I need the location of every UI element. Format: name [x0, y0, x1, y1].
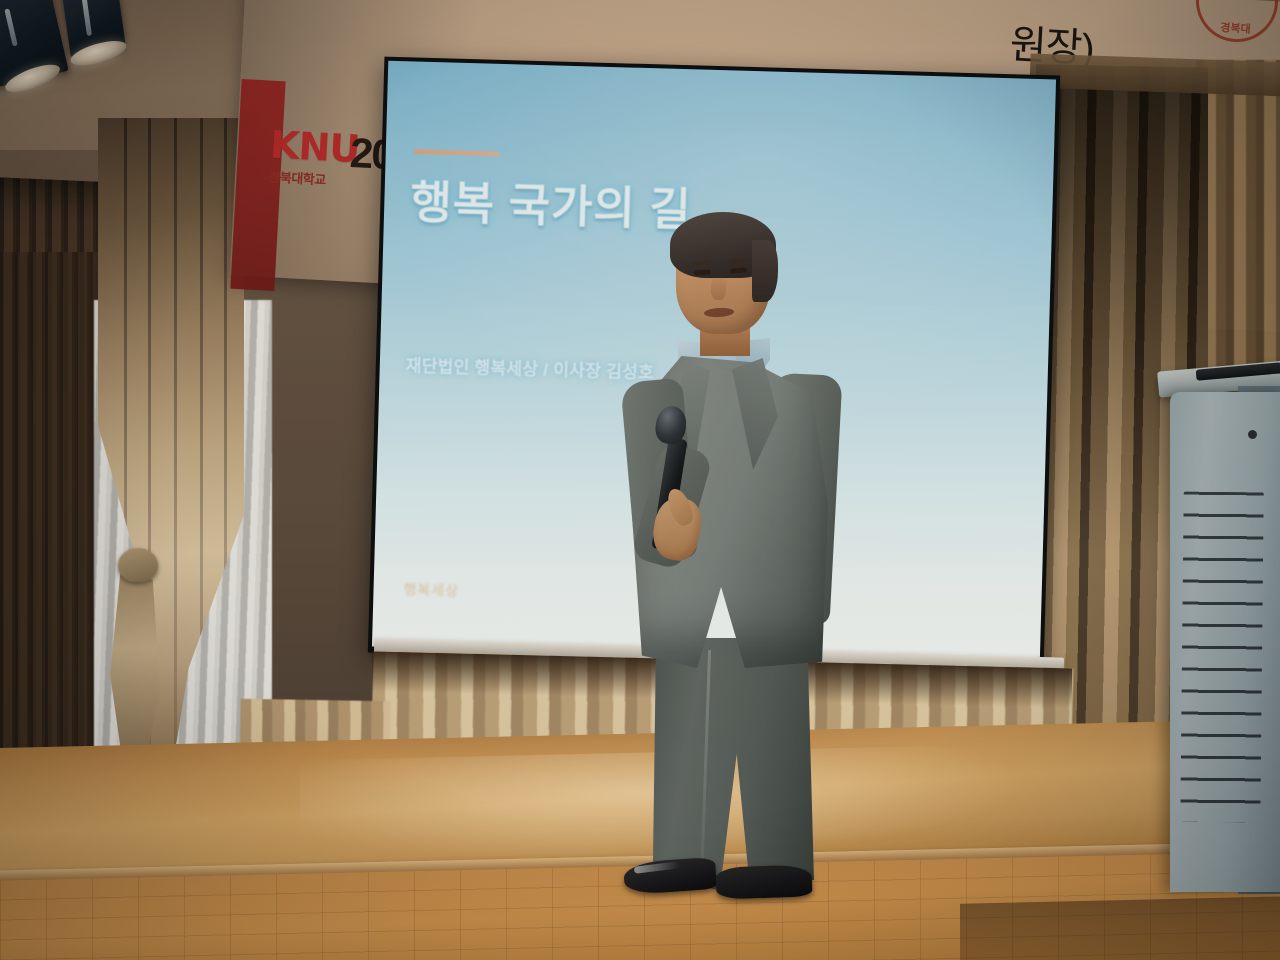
drape-fold: [174, 118, 177, 758]
speaker-trousers: [646, 638, 814, 890]
spotlight-icon: [62, 0, 127, 58]
floor-shadow-right: [960, 896, 1280, 960]
stage-photo-scene: KNU 경북대학교 20 원장) 경북대 행복 국가의 길 재단법인 행복세상 …: [0, 0, 1280, 960]
speaker-nose: [711, 276, 726, 300]
podium-vent-slots: [1180, 492, 1263, 823]
drape-tieback: [118, 548, 158, 582]
spotlight-mount: [4, 8, 17, 46]
spotlight-mount: [82, 0, 92, 36]
speaker-person: [612, 210, 872, 900]
slide-watermark-logo: 행복세상: [403, 579, 459, 601]
podium-knob: [1248, 430, 1257, 439]
speaker-hair-side: [752, 240, 778, 302]
speaker-shoe-right: [715, 864, 812, 899]
